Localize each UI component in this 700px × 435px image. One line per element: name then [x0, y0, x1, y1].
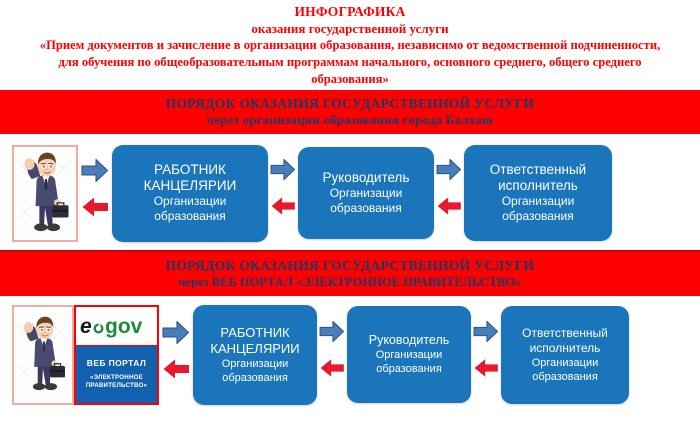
- arrow-left-red-icon: [81, 196, 109, 218]
- process-box-line-1: Руководитель: [369, 333, 450, 348]
- egov-logo: e gov: [76, 307, 157, 346]
- arrow-right-blue-icon: [162, 320, 190, 345]
- process-box-line-4: образования: [532, 370, 598, 384]
- section-1-banner-line-1: ПОРЯДОК ОКАЗАНИЯ ГОСУДАРСТВЕННОЙ УСЛУГИ: [0, 95, 700, 112]
- process-box-line-3: образования: [330, 201, 402, 216]
- egov-logo-icon: e gov: [79, 313, 155, 339]
- service-name-line-2: для обучения по общеобразовательным прог…: [6, 54, 694, 71]
- process-box-line-1: РАБОТНИК: [154, 162, 226, 178]
- arrow-pair-box2-to-box3-s1: [434, 150, 464, 236]
- arrow-left-red-icon: [319, 358, 345, 378]
- applicant-person-card-1: [12, 145, 78, 242]
- page-subtitle: оказания государственной услуги: [6, 20, 694, 37]
- process-box-line-1: Руководитель: [323, 170, 410, 186]
- egov-portal-card[interactable]: e gov ВЕБ ПОРТАЛ «ЭЛЕКТРОННОЕ ПРАВИТЕЛЬС…: [74, 305, 159, 405]
- arrow-right-blue-icon: [436, 158, 462, 181]
- process-box-line-4: образования: [222, 371, 288, 385]
- process-box-line-4: образования: [502, 209, 574, 224]
- arrow-right-blue-icon: [81, 158, 109, 183]
- arrow-left-red-icon: [270, 196, 296, 216]
- arrow-right-blue-icon: [319, 320, 345, 343]
- process-box-head-s2[interactable]: Руководитель Организации образования: [347, 306, 471, 403]
- process-box-line-1: Ответственный: [490, 162, 586, 178]
- arrow-right-blue-icon: [473, 320, 499, 343]
- section-1-flow: РАБОТНИК КАНЦЕЛЯРИИ Организации образова…: [0, 134, 700, 246]
- section-2-flow: e gov ВЕБ ПОРТАЛ «ЭЛЕКТРОННОЕ ПРАВИТЕЛЬС…: [0, 296, 700, 409]
- section-2-banner-line-1: ПОРЯДОК ОКАЗАНИЯ ГОСУДАРСТВЕННОЙ УСЛУГИ: [0, 257, 700, 274]
- egov-portal-line-2: «ЭЛЕКТРОННОЕ: [88, 374, 145, 382]
- process-box-line-2: КАНЦЕЛЯРИИ: [210, 341, 299, 357]
- applicant-person-card-2: [12, 305, 74, 405]
- process-box-clerk-s1[interactable]: РАБОТНИК КАНЦЕЛЯРИИ Организации образова…: [112, 145, 268, 242]
- process-box-line-2: КАНЦЕЛЯРИИ: [144, 178, 237, 194]
- process-box-line-2: Организации: [376, 348, 443, 362]
- process-box-line-1: РАБОТНИК: [220, 325, 289, 341]
- businessman-icon: [14, 307, 72, 403]
- infographic-title-block: ИНФОГРАФИКА оказания государственной усл…: [0, 0, 700, 90]
- section-1-banner-line-2: через организации образования города Бал…: [0, 112, 700, 128]
- process-box-line-3: Организации: [502, 194, 575, 209]
- process-box-line-1: Ответственный: [522, 326, 608, 341]
- process-box-line-4: образования: [154, 209, 226, 224]
- process-box-line-3: Организации: [532, 356, 599, 370]
- section-1-banner: ПОРЯДОК ОКАЗАНИЯ ГОСУДАРСТВЕННОЙ УСЛУГИ …: [0, 90, 700, 134]
- section-2-banner: ПОРЯДОК ОКАЗАНИЯ ГОСУДАРСТВЕННОЙ УСЛУГИ …: [0, 252, 700, 296]
- arrow-left-red-icon: [436, 196, 462, 216]
- process-box-line-3: Организации: [154, 194, 227, 209]
- process-box-line-3: образования: [376, 362, 442, 376]
- arrow-right-blue-icon: [270, 158, 296, 181]
- process-box-line-2: исполнитель: [498, 178, 578, 194]
- service-name-line-3: образования»: [6, 71, 694, 88]
- process-box-executor-s2[interactable]: Ответственный исполнитель Организации об…: [501, 306, 629, 404]
- arrow-pair-box1-to-box2-s1: [268, 150, 298, 236]
- arrow-pair-person-to-box1-s1: [78, 150, 112, 236]
- egov-portal-line-1: ВЕБ ПОРТАЛ: [87, 358, 146, 369]
- egov-logo-gov: gov: [105, 315, 143, 338]
- egov-portal-label: ВЕБ ПОРТАЛ «ЭЛЕКТРОННОЕ ПРАВИТЕЛЬСТВО»: [76, 346, 157, 403]
- arrow-pair-box2-to-box3-s2: [471, 312, 501, 398]
- process-box-line-2: исполнитель: [530, 341, 601, 356]
- businessman-icon: [14, 147, 76, 240]
- arrow-left-red-icon: [162, 358, 190, 380]
- service-name-line-1: «Прием документов и зачисление в организ…: [6, 37, 694, 54]
- egov-portal-line-3: ПРАВИТЕЛЬСТВО»: [84, 382, 149, 390]
- arrow-pair-box1-to-box2-s2: [317, 312, 347, 398]
- page-title: ИНФОГРАФИКА: [6, 4, 694, 20]
- arrow-pair-egov-to-box1-s2: [159, 312, 193, 398]
- section-2-banner-line-2: через ВЕБ ПОРТАЛ «ЭЛЕКТРОННОЕ ПРАВИТЕЛЬС…: [0, 274, 700, 290]
- process-box-line-3: Организации: [222, 357, 289, 371]
- process-box-head-s1[interactable]: Руководитель Организации образования: [298, 147, 434, 239]
- egov-logo-e: e: [80, 315, 92, 338]
- process-box-executor-s1[interactable]: Ответственный исполнитель Организации об…: [464, 145, 612, 241]
- arrow-left-red-icon: [473, 358, 499, 378]
- process-box-clerk-s2[interactable]: РАБОТНИК КАНЦЕЛЯРИИ Организации образова…: [193, 305, 317, 405]
- process-box-line-2: Организации: [330, 186, 403, 201]
